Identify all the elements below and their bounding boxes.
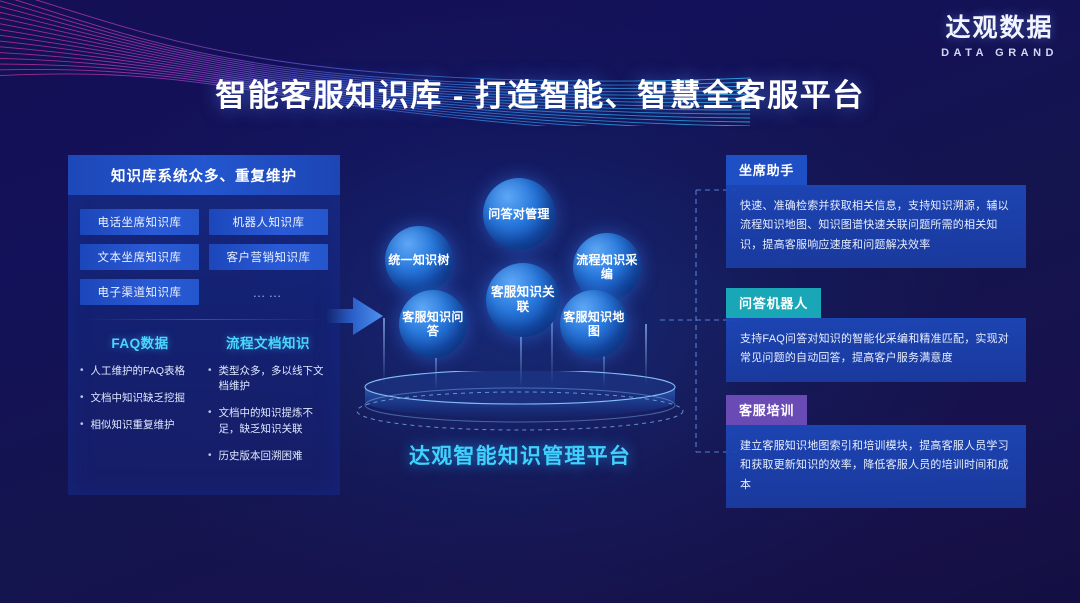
bubble-label: 问答对管理 — [488, 207, 550, 221]
kb-chip-ellipsis: …… — [209, 279, 328, 305]
slide-canvas: 达观数据 DATA GRAND 智能客服知识库 - 打造智能、智慧全客服平台 知… — [0, 0, 1080, 603]
kb-chip: 电子渠道知识库 — [80, 279, 199, 305]
column-title: 流程文档知识 — [208, 332, 328, 352]
card-body: 建立客服知识地图索引和培训模块，提高客服人员学习和获取更新知识的效率，降低客服人… — [726, 425, 1026, 508]
bullet-text: 类型众多，多以线下文档维护 — [219, 364, 328, 394]
bubble-label: 客服知识问答 — [399, 310, 467, 339]
card-tab[interactable]: 坐席助手 — [726, 155, 807, 185]
kb-chip: 文本坐席知识库 — [80, 244, 199, 270]
column-title: FAQ数据 — [80, 332, 200, 352]
brand-logo: 达观数据 DATA GRAND — [941, 16, 1058, 59]
card-tab[interactable]: 问答机器人 — [726, 288, 821, 318]
bubble-service-knowledge-qa[interactable]: 客服知识问答 — [399, 290, 467, 358]
bubble-unified-knowledge-tree[interactable]: 统一知识树 — [385, 226, 453, 294]
bubble-label: 客服知识关联 — [486, 285, 560, 315]
feature-card-agent-assistant: 坐席助手 快速、准确检索并获取相关信息，支持知识溯源，辅以流程知识地图、知识图谱… — [726, 155, 1026, 268]
bullet-text: 相似知识重复维护 — [91, 418, 175, 433]
kb-chip: 电话坐席知识库 — [80, 209, 199, 235]
bullet-item: •类型众多，多以线下文档维护 — [208, 364, 328, 394]
bullet-item: •文档中知识缺乏挖掘 — [80, 391, 200, 406]
bullet-text: 历史版本回溯困难 — [219, 449, 303, 464]
kb-chip: 客户营销知识库 — [209, 244, 328, 270]
problem-column-process-doc: 流程文档知识 •类型众多，多以线下文档维护 •文档中的知识提炼不足，缺乏知识关联… — [208, 332, 328, 476]
center-visualization: 问答对管理 统一知识树 流程知识采编 客服知识关联 客服知识问答 客服知识地图 — [355, 178, 685, 478]
bullet-dot: • — [208, 449, 212, 464]
bullet-item: •相似知识重复维护 — [80, 418, 200, 433]
platform-title: 达观智能知识管理平台 — [355, 440, 685, 470]
left-panel-header: 知识库系统众多、重复维护 — [68, 155, 340, 195]
kb-chip: 机器人知识库 — [209, 209, 328, 235]
bullet-text: 文档中知识缺乏挖掘 — [91, 391, 186, 406]
platform-base — [355, 371, 685, 443]
bubble-label: 统一知识树 — [388, 253, 450, 267]
brand-name-en: DATA GRAND — [941, 48, 1058, 59]
bullet-text: 文档中的知识提炼不足，缺乏知识关联 — [219, 406, 328, 436]
platform-svg — [355, 371, 685, 443]
problem-column-faq: FAQ数据 •人工维护的FAQ表格 •文档中知识缺乏挖掘 •相似知识重复维护 — [80, 332, 200, 476]
left-problem-panel: 知识库系统众多、重复维护 电话坐席知识库 机器人知识库 文本坐席知识库 客户营销… — [68, 155, 340, 495]
problem-columns: FAQ数据 •人工维护的FAQ表格 •文档中知识缺乏挖掘 •相似知识重复维护 流… — [68, 320, 340, 476]
bullet-dot: • — [80, 391, 84, 406]
bubble-label: 客服知识地图 — [560, 310, 628, 339]
bullet-dot: • — [80, 418, 84, 433]
bullet-dot: • — [208, 364, 212, 394]
card-body: 快速、准确检索并获取相关信息，支持知识溯源，辅以流程知识地图、知识图谱快速关联问… — [726, 185, 1026, 268]
page-title: 智能客服知识库 - 打造智能、智慧全客服平台 — [0, 70, 1080, 115]
bubble-qa-pair-management[interactable]: 问答对管理 — [483, 178, 555, 250]
bullet-dot: • — [208, 406, 212, 436]
card-body: 支持FAQ问答对知识的智能化采编和精准匹配，实现对常见问题的自动回答，提高客户服… — [726, 318, 1026, 382]
brand-name-cn: 达观数据 — [941, 16, 1058, 41]
bubble-service-knowledge-linking[interactable]: 客服知识关联 — [486, 263, 560, 337]
card-tab[interactable]: 客服培训 — [726, 395, 807, 425]
bullet-item: •历史版本回溯困难 — [208, 449, 328, 464]
bubble-label: 流程知识采编 — [573, 253, 641, 282]
bullet-text: 人工维护的FAQ表格 — [91, 364, 186, 379]
feature-card-service-training: 客服培训 建立客服知识地图索引和培训模块，提高客服人员学习和获取更新知识的效率，… — [726, 395, 1026, 508]
bubble-service-knowledge-map[interactable]: 客服知识地图 — [560, 290, 628, 358]
bullet-dot: • — [80, 364, 84, 379]
bullet-item: •文档中的知识提炼不足，缺乏知识关联 — [208, 406, 328, 436]
bullet-item: •人工维护的FAQ表格 — [80, 364, 200, 379]
feature-card-qa-robot: 问答机器人 支持FAQ问答对知识的智能化采编和精准匹配，实现对常见问题的自动回答… — [726, 288, 1026, 382]
knowledge-base-chip-grid: 电话坐席知识库 机器人知识库 文本坐席知识库 客户营销知识库 电子渠道知识库 …… — [68, 195, 340, 309]
